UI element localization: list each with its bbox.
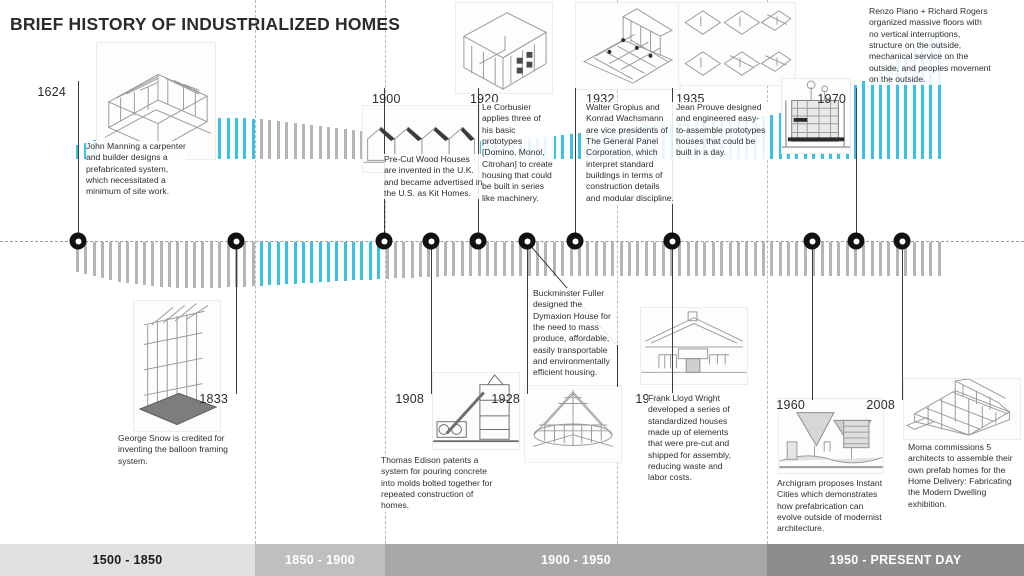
timeline-node-2008-bottom[interactable] (894, 233, 911, 250)
bar-upper (352, 130, 355, 159)
leader-line-1908-bottom (431, 241, 432, 394)
timeline-node-1900-top[interactable] (376, 233, 393, 250)
bar-lower (511, 242, 514, 276)
bar-lower (829, 242, 832, 276)
bar-lower (762, 242, 765, 276)
era-segment-1[interactable]: 1850 - 1900 (255, 544, 385, 576)
bar-lower (394, 242, 397, 278)
year-label-2008-bottom: 2008 (866, 398, 895, 412)
bar-lower (921, 242, 924, 276)
timeline-node-1960-bottom[interactable] (804, 233, 821, 250)
bar-lower (411, 242, 414, 278)
bar-lower (193, 242, 196, 288)
timeline-node-1932-top[interactable] (567, 233, 584, 250)
caption-1624-top: John Manning a carpenter and builder des… (86, 141, 186, 198)
bar-lower (938, 242, 941, 276)
bar-lower (887, 242, 890, 276)
thumbnail-pompidou-section (781, 78, 851, 154)
bar-lower (695, 242, 698, 276)
bar-upper (319, 126, 322, 159)
bar-lower (929, 242, 932, 276)
infographic-canvas: BRIEF HISTORY OF INDUSTRIALIZED HOMES (0, 0, 1024, 576)
thumbnail-prefab-module-isometric (903, 378, 1021, 440)
bar-upper (871, 76, 874, 159)
bar-lower (151, 242, 154, 286)
bar-lower (243, 242, 246, 287)
thumbnail-general-panel-frame (575, 2, 681, 90)
bar-lower (595, 242, 598, 276)
year-label-1960-bottom: 1960 (776, 398, 805, 412)
bar-lower (143, 242, 146, 285)
bar-lower (126, 242, 129, 283)
year-label-1928-bottom: 1928 (491, 392, 520, 406)
caption-1970-top: Renzo Piano + Richard Rogers organized m… (869, 6, 993, 85)
timeline-node-1833-bottom[interactable] (228, 233, 245, 250)
bar-lower (611, 242, 614, 276)
bar-upper (578, 133, 581, 159)
thumbnail-dymaxion-house (524, 385, 622, 463)
bar-lower (712, 242, 715, 276)
bar-lower (101, 242, 104, 278)
bar-lower (536, 242, 539, 276)
bar-upper (862, 81, 865, 159)
caption-1932-top: Walter Gropius and Konrad Wachsmann are … (586, 102, 674, 204)
year-label-1970-top: 1970 (817, 92, 846, 106)
bar-lower (494, 242, 497, 276)
caption-1960-bottom: Archigram proposes Instant Cities which … (777, 478, 885, 535)
timeline-node-1935-top[interactable] (664, 233, 681, 250)
bar-upper (344, 129, 347, 159)
leader-line-1970-top (856, 88, 857, 241)
bar-lower (360, 242, 363, 280)
leader-line-2008-bottom (902, 241, 903, 400)
bar-upper (260, 119, 263, 159)
leader-line-1928-bottom (527, 241, 528, 394)
bar-upper (277, 121, 280, 159)
leader-line-1960-bottom (812, 241, 813, 400)
bar-upper (570, 134, 573, 159)
caption-1908-bottom: Thomas Edison patents a system for pouri… (381, 455, 495, 512)
bar-lower (344, 242, 347, 281)
bar-lower (118, 242, 121, 282)
leader-line-1833-bottom (236, 241, 237, 394)
bar-lower (678, 242, 681, 276)
era-segment-2[interactable]: 1900 - 1950 (385, 544, 767, 576)
bar-lower (419, 242, 422, 277)
caption-1928-bottom: Buckminster Fuller designed the Dymaxion… (533, 288, 617, 379)
year-label-1908-bottom: 1908 (395, 392, 424, 406)
thumbnail-usonian-house-elevation (640, 307, 748, 385)
caption-1935-top: Jean Prouve designed and engineered easy… (676, 102, 768, 159)
bar-upper (294, 123, 297, 159)
bar-lower (176, 242, 179, 288)
bar-lower (687, 242, 690, 276)
bar-upper (235, 118, 238, 159)
year-label-1900-top: 1900 (372, 92, 401, 106)
timeline-axis (0, 241, 1024, 242)
bar-lower (268, 242, 271, 285)
bar-lower (837, 242, 840, 276)
bar-lower (745, 242, 748, 276)
caption-1932-bottom: Frank Lloyd Wright developed a series of… (648, 393, 742, 484)
bar-lower (628, 242, 631, 276)
bar-lower (327, 242, 330, 282)
year-label-1624-top: 1624 (37, 85, 66, 99)
bar-lower (444, 242, 447, 276)
leader-line-1932-top (575, 88, 576, 241)
bar-lower (603, 242, 606, 276)
bar-lower (729, 242, 732, 276)
bar-upper (770, 115, 773, 159)
bar-lower (653, 242, 656, 276)
bar-lower (352, 242, 355, 280)
bar-lower (703, 242, 706, 276)
bar-upper (285, 122, 288, 159)
bar-upper (561, 135, 564, 159)
bar-lower (285, 242, 288, 284)
bar-lower (720, 242, 723, 276)
bar-lower (252, 242, 255, 286)
bar-upper (327, 127, 330, 159)
thumbnail-concrete-pour-machine (432, 372, 520, 450)
bar-lower (503, 242, 506, 276)
bar-lower (871, 242, 874, 276)
bar-lower (335, 242, 338, 281)
bar-lower (879, 242, 882, 276)
bar-lower (227, 242, 230, 287)
bar-lower (218, 242, 221, 288)
bar-lower (913, 242, 916, 276)
caption-1920-top: Le Corbusier applies three of his basic … (482, 102, 554, 204)
bar-lower (294, 242, 297, 284)
bar-lower (452, 242, 455, 276)
bar-lower (135, 242, 138, 284)
bar-lower (402, 242, 405, 278)
bar-upper (268, 120, 271, 159)
bar-lower (93, 242, 96, 276)
bar-lower (310, 242, 313, 283)
caption-1833-bottom: George Snow is credited for inventing th… (118, 433, 240, 467)
bar-lower (779, 242, 782, 276)
timeline-node-1920-top[interactable] (470, 233, 487, 250)
bar-lower (754, 242, 757, 276)
era-segment-0[interactable]: 1500 - 1850 (0, 544, 255, 576)
timeline-node-1908-bottom[interactable] (423, 233, 440, 250)
bar-upper (335, 128, 338, 159)
bar-lower (461, 242, 464, 276)
thumbnail-domino-house-isometric (455, 2, 553, 94)
bar-lower (737, 242, 740, 276)
bar-lower (486, 242, 489, 276)
bar-lower (862, 242, 865, 276)
bar-lower (662, 242, 665, 276)
leader-line-1932-bottom (672, 241, 673, 394)
bar-lower (821, 242, 824, 276)
bar-lower (277, 242, 280, 285)
bar-upper (243, 118, 246, 159)
bar-upper (310, 125, 313, 159)
bar-lower (84, 242, 87, 274)
bar-lower (185, 242, 188, 288)
thumbnail-prouve-house-grid (678, 2, 796, 86)
page-title: BRIEF HISTORY OF INDUSTRIALIZED HOMES (10, 14, 400, 35)
bar-lower (787, 242, 790, 276)
bar-lower (795, 242, 798, 276)
bar-lower (544, 242, 547, 276)
timeline-node-1970-top[interactable] (848, 233, 865, 250)
bar-lower (210, 242, 213, 288)
bar-lower (160, 242, 163, 287)
era-legend-bar: 1500 - 18501850 - 19001900 - 19501950 - … (0, 544, 1024, 576)
bar-upper (252, 119, 255, 159)
bar-upper (302, 124, 305, 159)
leader-line-1624-top (78, 81, 79, 241)
caption-1900-top: Pre-Cut Wood Houses are invented in the … (384, 154, 484, 199)
timeline-node-1624-top[interactable] (70, 233, 87, 250)
thumbnail-balloon-frame-wall (133, 300, 221, 432)
leader-line-1928-drop (617, 345, 618, 387)
bar-lower (561, 242, 564, 276)
bar-lower (770, 242, 773, 276)
bar-lower (645, 242, 648, 276)
bar-lower (319, 242, 322, 282)
bar-lower (201, 242, 204, 288)
bar-lower (260, 242, 263, 286)
era-segment-3[interactable]: 1950 - PRESENT DAY (767, 544, 1024, 576)
bar-upper (227, 118, 230, 159)
bar-lower (168, 242, 171, 287)
bar-lower (636, 242, 639, 276)
bar-lower (369, 242, 372, 280)
bar-lower (109, 242, 112, 280)
bar-lower (620, 242, 623, 276)
bar-upper (218, 118, 221, 159)
bar-lower (846, 242, 849, 276)
caption-2008-bottom: Moma commissions 5 architects to assembl… (908, 442, 1018, 510)
year-label-1833-bottom: 1833 (199, 392, 228, 406)
bar-lower (586, 242, 589, 276)
bar-lower (302, 242, 305, 283)
timeline-node-1928-bottom[interactable] (519, 233, 536, 250)
